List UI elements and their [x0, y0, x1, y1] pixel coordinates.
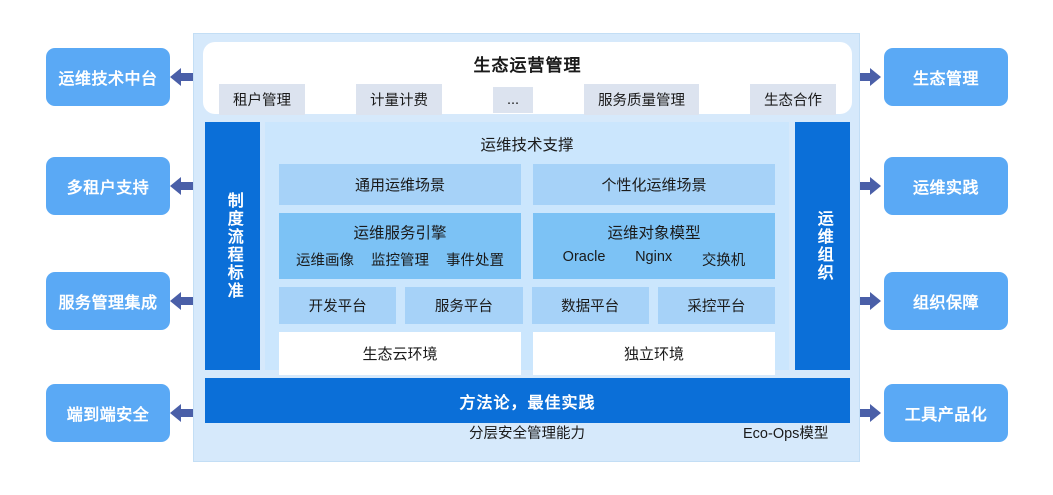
right-label-tool-productization[interactable]: 工具产品化	[884, 384, 1008, 442]
methodology-text: 方法论，最佳实践	[459, 389, 595, 413]
engine-item-oracle[interactable]: Oracle	[563, 249, 606, 270]
engine-item-ops-profile[interactable]: 运维画像	[296, 249, 354, 270]
left-label-text: 服务管理集成	[58, 289, 157, 313]
header-chip-more[interactable]: ...	[493, 87, 533, 113]
vertical-bar-policy-process-standard: 制度流程标准	[205, 122, 260, 370]
left-label-text: 运维技术中台	[58, 65, 157, 89]
diagram-container: 生态运营管理 租户管理 计量计费 ... 服务质量管理 生态合作 制度流程标准 …	[193, 33, 860, 462]
footer-layered-security: 分层安全管理能力	[469, 422, 585, 443]
engine-items: Oracle Nginx 交换机	[533, 249, 775, 270]
header-chip-service-quality-management[interactable]: 服务质量管理	[584, 84, 699, 115]
left-label-text: 端到端安全	[67, 401, 150, 425]
platform-chip-data[interactable]: 数据平台	[532, 287, 649, 324]
eco-operation-management-card: 生态运营管理 租户管理 计量计费 ... 服务质量管理 生态合作	[203, 42, 852, 114]
engine-title: 运维对象模型	[533, 221, 775, 249]
left-label-text: 多租户支持	[67, 174, 150, 198]
ops-tech-support-panel: 运维技术支撑 通用运维场景 个性化运维场景 运维服务引擎 运维画像 监控管理 事…	[265, 122, 789, 370]
right-label-text: 组织保障	[913, 289, 979, 313]
methodology-best-practice-bar: 方法论，最佳实践	[205, 378, 850, 423]
footer-eco-ops-model: Eco-Ops模型	[743, 422, 828, 443]
scenario-chip-personalized[interactable]: 个性化运维场景	[533, 164, 775, 205]
platform-chip-collection-control[interactable]: 采控平台	[658, 287, 775, 324]
tech-panel-title: 运维技术支撑	[279, 122, 775, 164]
scenario-row: 通用运维场景 个性化运维场景	[279, 164, 775, 205]
env-chip-standalone[interactable]: 独立环境	[533, 332, 775, 375]
vertical-bar-ops-organization: 运维组织	[795, 122, 850, 370]
left-label-end-to-end-security[interactable]: 端到端安全	[46, 384, 170, 442]
header-title: 生态运营管理	[203, 42, 852, 76]
engine-item-switch[interactable]: 交换机	[702, 249, 746, 270]
engine-items: 运维画像 监控管理 事件处置	[279, 249, 521, 270]
right-label-eco-management[interactable]: 生态管理	[884, 48, 1008, 106]
right-label-text: 运维实践	[913, 174, 979, 198]
right-label-ops-practice[interactable]: 运维实践	[884, 157, 1008, 215]
header-chip-eco-cooperation[interactable]: 生态合作	[750, 84, 836, 115]
left-label-service-mgmt-integration[interactable]: 服务管理集成	[46, 272, 170, 330]
left-label-multi-tenant[interactable]: 多租户支持	[46, 157, 170, 215]
right-label-text: 生态管理	[913, 65, 979, 89]
header-chip-row: 租户管理 计量计费 ... 服务质量管理 生态合作	[203, 76, 852, 115]
vertical-bar-right-text: 运维组织	[813, 210, 831, 282]
env-chip-eco-cloud[interactable]: 生态云环境	[279, 332, 521, 375]
platform-chip-development[interactable]: 开发平台	[279, 287, 396, 324]
right-label-org-guarantee[interactable]: 组织保障	[884, 272, 1008, 330]
platform-chip-service[interactable]: 服务平台	[405, 287, 522, 324]
engine-block-object-model[interactable]: 运维对象模型 Oracle Nginx 交换机	[533, 213, 775, 279]
engine-item-monitoring-management[interactable]: 监控管理	[371, 249, 429, 270]
left-label-ops-tech-platform[interactable]: 运维技术中台	[46, 48, 170, 106]
engine-row: 运维服务引擎 运维画像 监控管理 事件处置 运维对象模型 Oracle Ngin…	[279, 205, 775, 279]
environment-row: 生态云环境 独立环境	[279, 332, 775, 375]
engine-title: 运维服务引擎	[279, 221, 521, 249]
header-chip-metering-billing[interactable]: 计量计费	[356, 84, 442, 115]
vertical-bar-left-text: 制度流程标准	[223, 192, 241, 300]
right-label-text: 工具产品化	[905, 401, 988, 425]
engine-item-nginx[interactable]: Nginx	[635, 249, 672, 270]
header-chip-tenant-management[interactable]: 租户管理	[219, 84, 305, 115]
engine-block-service-engine[interactable]: 运维服务引擎 运维画像 监控管理 事件处置	[279, 213, 521, 279]
scenario-chip-general[interactable]: 通用运维场景	[279, 164, 521, 205]
engine-item-event-handling[interactable]: 事件处置	[446, 249, 504, 270]
platform-row: 开发平台 服务平台 数据平台 采控平台	[279, 287, 775, 324]
